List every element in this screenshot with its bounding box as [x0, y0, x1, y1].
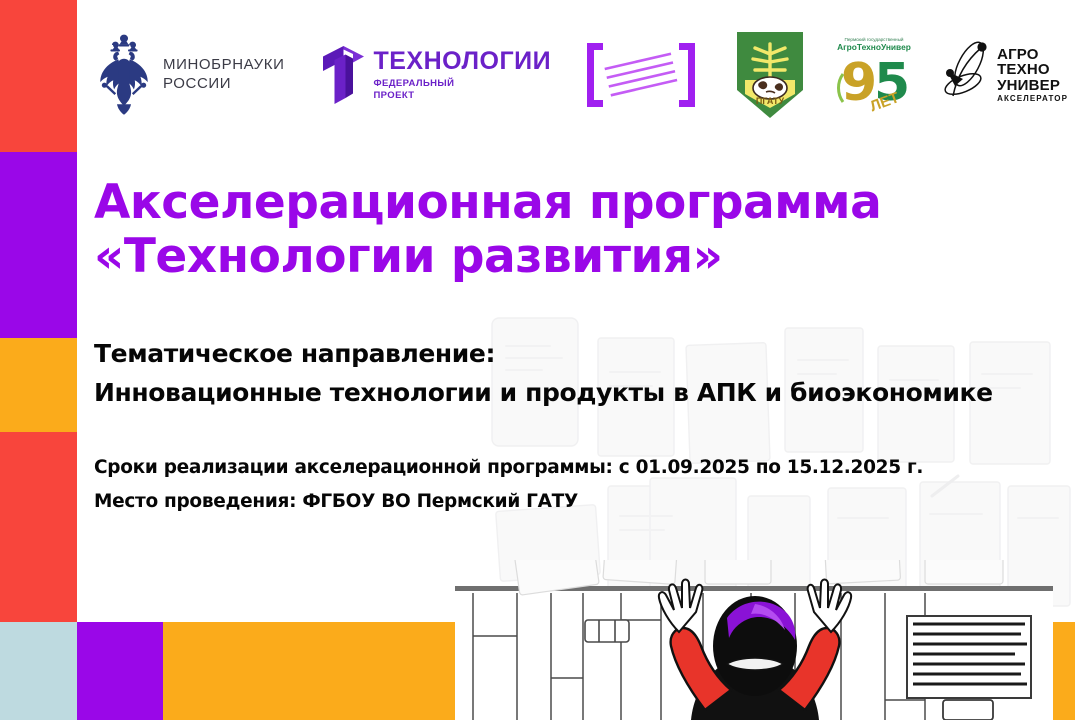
agro-sub: АКСЕЛЕРАТОР	[997, 95, 1068, 103]
bottom-segment-orange	[163, 622, 457, 720]
presentation-slide: МИНОБРНАУКИ РОССИИ ТЕХНОЛОГИИ ФЕДЕРАЛЬНЫ…	[0, 0, 1075, 720]
bottom-segment-orange-right	[1053, 622, 1075, 720]
anniversary-brand: АгроТехноУнивер	[837, 42, 911, 52]
square-brackets-mark-icon	[581, 39, 701, 111]
color-segment-orange	[0, 338, 77, 432]
theme-block: Тематическое направление: Инновационные …	[94, 335, 1069, 413]
left-color-bar	[0, 0, 77, 622]
logo-platform-university-entrepreneurship: ПЛАТФОРМА УНИВЕРСИТЕТСКОГО ТЕХНОЛОГИЧЕСК…	[581, 39, 701, 111]
minobrnauki-label: МИНОБРНАУКИ РОССИИ	[163, 56, 284, 94]
agro-wordmark: АГРО ТЕХНО УНИВЕР АКСЕЛЕРАТОР	[997, 47, 1068, 103]
bottom-segment-purple	[77, 622, 163, 720]
technologies-title: ТЕХНОЛОГИИ	[373, 49, 551, 74]
anniversary-95-icon: Пермский государственный АгроТехноУнивер…	[829, 32, 919, 118]
shield-abbr: ПГАТУ	[756, 96, 785, 106]
logo-perm-gatu-shield: ПГАТУ	[733, 28, 807, 122]
bottom-color-strip	[0, 622, 1075, 720]
program-dates: Сроки реализации акселерационной програм…	[94, 451, 1069, 485]
page-title: Акселерационная программа «Технологии ра…	[94, 176, 1069, 283]
bottom-segment-blue	[0, 622, 77, 720]
agro-line1: АГРО	[997, 47, 1068, 62]
logo-agro-techno-univer-accelerator: АГРО ТЕХНО УНИВЕР АКСЕЛЕРАТОР	[941, 38, 1068, 112]
technologies-wordmark: ТЕХНОЛОГИИ ФЕДЕРАЛЬНЫЙ ПРОЕКТ	[373, 49, 551, 100]
theme-value: Инновационные технологии и продукты в АП…	[94, 374, 1069, 413]
double-headed-eagle-emblem-icon	[95, 34, 153, 116]
minobrnauki-line1: МИНОБРНАУКИ	[163, 56, 284, 75]
arrow-t-mark-icon	[320, 44, 366, 106]
green-shield-wheat-cow-emblem-icon: ПГАТУ	[733, 28, 807, 122]
program-venue: Место проведения: ФГБОУ ВО Пермский ГАТУ	[94, 485, 1069, 519]
color-segment-red-top	[0, 0, 77, 152]
theme-label: Тематическое направление:	[94, 335, 1069, 374]
logo-anniversary-95: Пермский государственный АгроТехноУнивер…	[829, 32, 919, 118]
content-block: Акселерационная программа «Технологии ра…	[94, 176, 1069, 519]
meta-block: Сроки реализации акселерационной програм…	[94, 451, 1069, 519]
agro-line3: УНИВЕР	[997, 78, 1068, 93]
minobrnauki-line2: РОССИИ	[163, 75, 284, 94]
technologies-subtitle: ФЕДЕРАЛЬНЫЙ ПРОЕКТ	[373, 78, 551, 100]
logo-minobrnauki: МИНОБРНАУКИ РОССИИ	[95, 34, 284, 116]
orbit-bird-mark-icon	[941, 38, 993, 112]
logo-federal-project-technologies: ТЕХНОЛОГИИ ФЕДЕРАЛЬНЫЙ ПРОЕКТ	[320, 44, 551, 106]
technologies-subtitle-line2: ПРОЕКТ	[373, 90, 551, 101]
technologies-subtitle-line1: ФЕДЕРАЛЬНЫЙ	[373, 78, 551, 89]
color-segment-red-bottom	[0, 432, 77, 622]
logo-row: МИНОБРНАУКИ РОССИИ ТЕХНОЛОГИИ ФЕДЕРАЛЬНЫ…	[77, 0, 1075, 150]
color-segment-purple	[0, 152, 77, 338]
bottom-desk-area	[457, 622, 1053, 720]
agro-line2: ТЕХНО	[997, 62, 1068, 77]
